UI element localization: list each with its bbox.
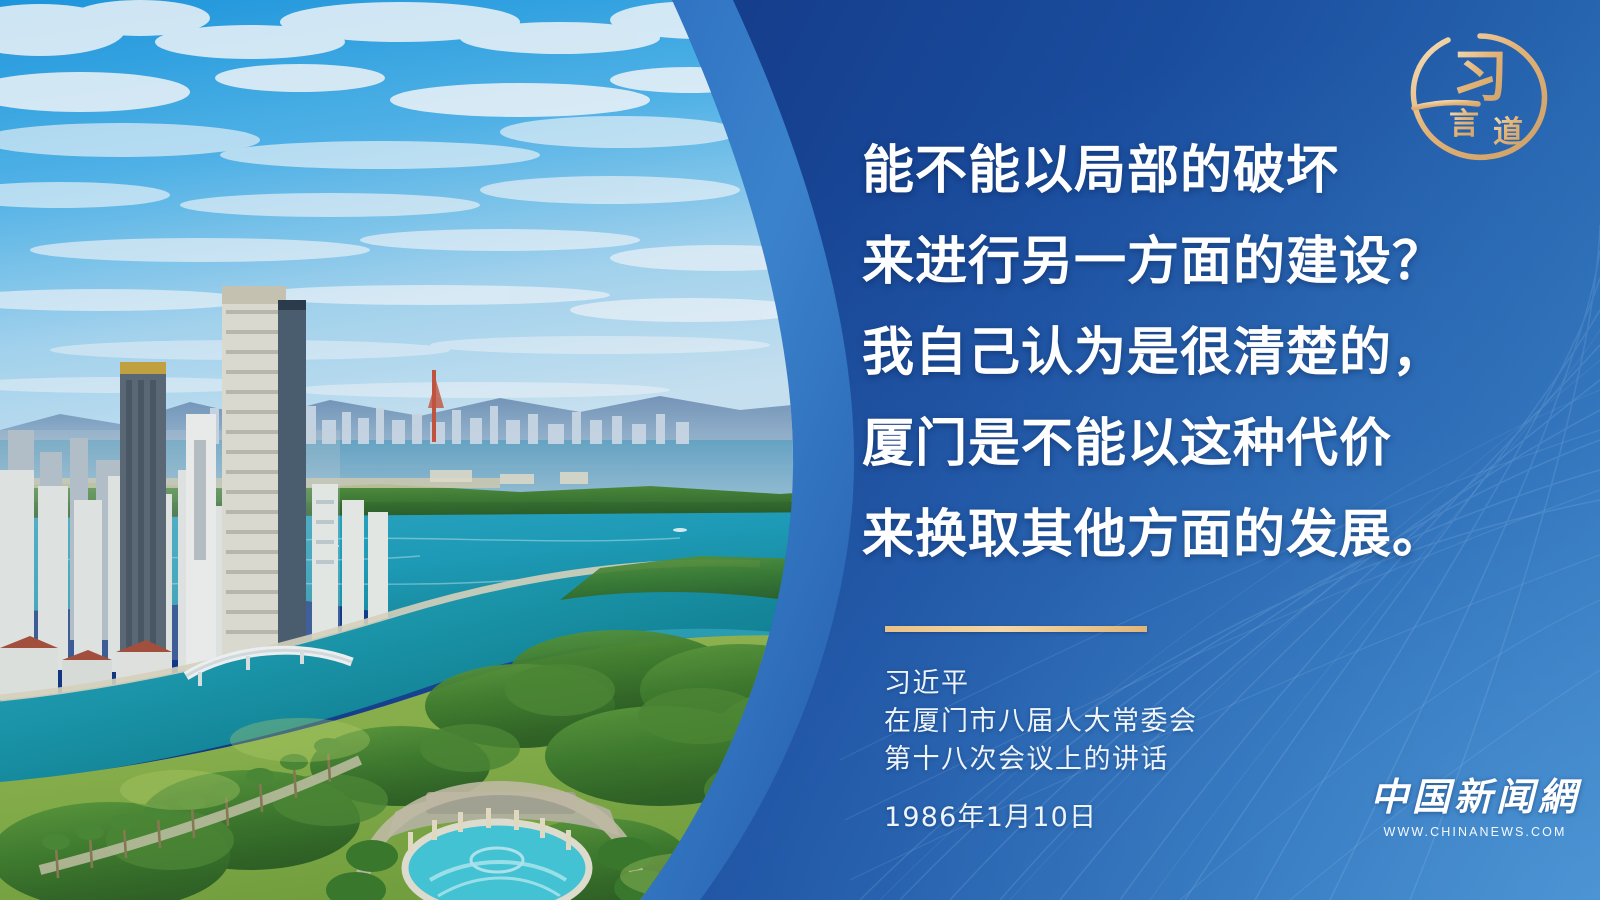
attribution-block: 习近平 在厦门市八届人大常委会 第十八次会议上的讲话 1986年1月10日 [884, 665, 1364, 837]
attribution-speaker: 习近平 [884, 665, 1364, 703]
chinanews-brand: 中国新闻網 [1366, 778, 1584, 816]
chinanews-url: WWW.CHINANEWS.COM [1366, 825, 1584, 839]
emblem-char-dao: 道 [1493, 115, 1523, 150]
poster-canvas: 习 言 道 能不能以局部的破坏 来进行另一方面的建设？ 我自己认为是很清楚的， … [0, 0, 1600, 900]
quote-line-1: 能不能以局部的破坏 [862, 126, 1462, 217]
attribution-date: 1986年1月10日 [884, 799, 1364, 837]
attribution-occasion-line-1: 在厦门市八届人大常委会 [884, 703, 1364, 741]
quote-line-5: 来换取其他方面的发展。 [862, 490, 1462, 581]
quote-line-3: 我自己认为是很清楚的， [862, 308, 1462, 399]
attribution-occasion-line-2: 第十八次会议上的讲话 [884, 741, 1364, 779]
chinanews-watermark: 中国新闻網 WWW.CHINANEWS.COM [1366, 778, 1584, 839]
photo-illustration [0, 0, 845, 900]
quote-line-2: 来进行另一方面的建设？ [862, 217, 1462, 308]
emblem-char-xi: 习 [1452, 45, 1508, 110]
gold-divider [885, 626, 1147, 632]
quote-line-4: 厦门是不能以这种代价 [862, 399, 1462, 490]
quote-block: 能不能以局部的破坏 来进行另一方面的建设？ 我自己认为是很清楚的， 厦门是不能以… [862, 126, 1462, 581]
xiamen-aerial-photo [0, 0, 845, 900]
